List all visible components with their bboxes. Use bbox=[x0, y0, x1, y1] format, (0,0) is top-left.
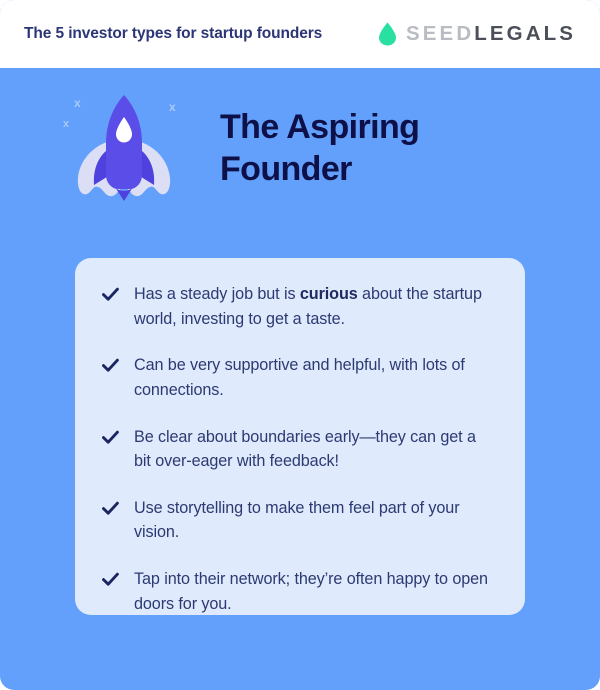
list-item: Has a steady job but is curious about th… bbox=[101, 282, 495, 331]
hero-section: x x x The Aspiring Founder bbox=[0, 68, 600, 228]
brand-logo: SEEDLEGALS bbox=[378, 22, 576, 46]
brand-word-legals: LEGALS bbox=[474, 22, 576, 45]
list-item-label: Tap into their network; they’re often ha… bbox=[134, 567, 495, 616]
rocket-illustration: x x x bbox=[58, 83, 188, 213]
brand-word-seed: SEED bbox=[406, 22, 474, 45]
bullet-list: Has a steady job but is curious about th… bbox=[101, 282, 495, 616]
list-item-label: Use storytelling to make them feel part … bbox=[134, 496, 495, 545]
list-item-label: Can be very supportive and helpful, with… bbox=[134, 353, 495, 402]
check-icon bbox=[101, 499, 120, 518]
hero-title: The Aspiring Founder bbox=[220, 106, 520, 190]
list-item-label: Be clear about boundaries early—they can… bbox=[134, 425, 495, 474]
list-item: Tap into their network; they’re often ha… bbox=[101, 567, 495, 616]
brand-wordmark: SEEDLEGALS bbox=[406, 24, 576, 45]
seedlegals-drop-icon bbox=[378, 22, 397, 46]
infographic-card: The 5 investor types for startup founder… bbox=[0, 0, 600, 690]
header-bar: The 5 investor types for startup founder… bbox=[0, 0, 600, 68]
check-icon bbox=[101, 356, 120, 375]
header-title: The 5 investor types for startup founder… bbox=[24, 25, 322, 43]
list-item: Use storytelling to make them feel part … bbox=[101, 496, 495, 545]
list-item-label: Has a steady job but is curious about th… bbox=[134, 282, 495, 331]
sparkle-icon: x bbox=[63, 119, 69, 130]
rocket-icon bbox=[70, 93, 178, 205]
check-icon bbox=[101, 570, 120, 589]
list-item: Be clear about boundaries early—they can… bbox=[101, 425, 495, 474]
check-icon bbox=[101, 428, 120, 447]
bullet-card: Has a steady job but is curious about th… bbox=[75, 258, 525, 615]
list-item: Can be very supportive and helpful, with… bbox=[101, 353, 495, 402]
check-icon bbox=[101, 285, 120, 304]
